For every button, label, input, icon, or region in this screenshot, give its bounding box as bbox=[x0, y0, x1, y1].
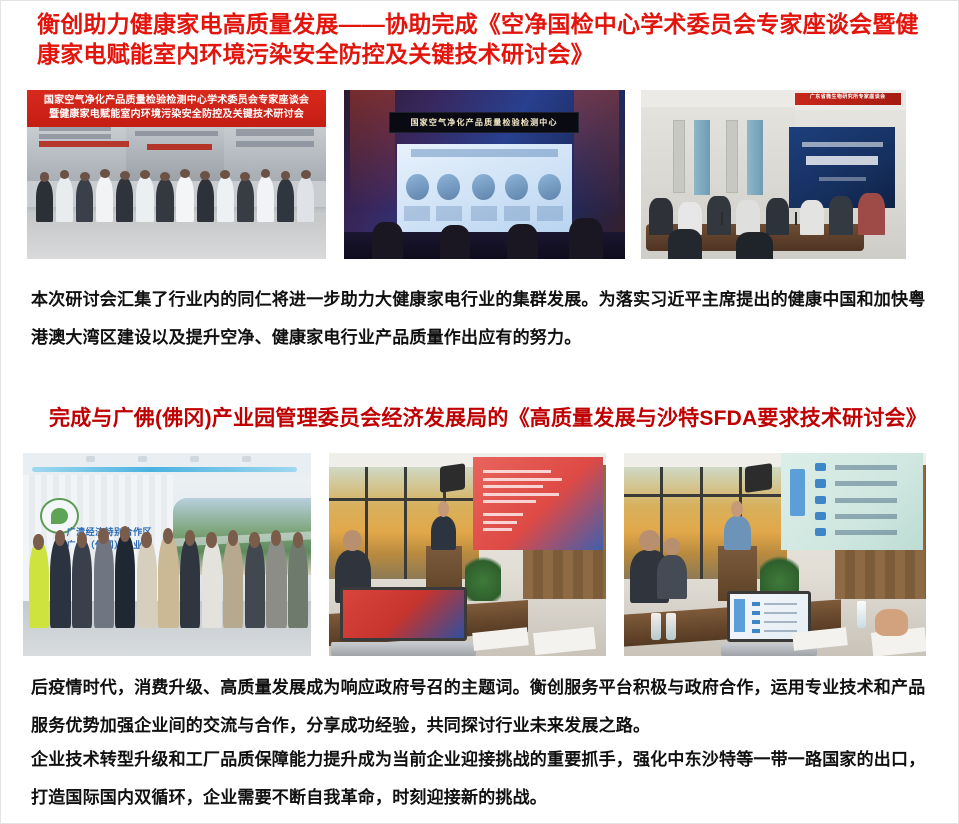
window-mullion bbox=[404, 467, 407, 579]
wall-panel bbox=[673, 120, 686, 193]
crowd-group bbox=[33, 164, 320, 221]
female-presenter bbox=[724, 516, 751, 551]
ceiling-speaker-icon bbox=[745, 463, 772, 493]
microphone bbox=[721, 212, 723, 226]
stage-light-right bbox=[574, 90, 619, 212]
window-row bbox=[39, 134, 111, 139]
conference-room-photo: 广东省微生物研究所专家座谈会 bbox=[641, 90, 906, 259]
seminar-male-speaker-photo bbox=[329, 453, 606, 656]
stage-screen bbox=[397, 144, 571, 232]
audience-silhouette bbox=[440, 225, 471, 259]
section-2-heading: 完成与广佛(佛冈)产业园管理委员会经济发展局的《高质量发展与沙特SFDA要求技术… bbox=[49, 404, 939, 434]
portrait-caption-3 bbox=[471, 206, 497, 222]
industrial-park-group-photo: 广清经济特别合作区 广佛（佛冈）产业园 bbox=[23, 453, 311, 656]
window-mullion bbox=[700, 467, 703, 579]
group-photo-outdoor: 国家空气净化产品质量检验检测中心学术委员会专家座谈会 暨健康家电赋能室内环境污染… bbox=[27, 90, 326, 259]
toc-number-05 bbox=[815, 528, 826, 536]
audience-silhouette bbox=[569, 218, 603, 259]
section-2-paragraph-2: 企业技术转型升级和工厂品质保障能力提升成为当前企业迎接挑战的重要抓手，强化中东沙… bbox=[31, 741, 941, 817]
facade-accent-stripe bbox=[39, 141, 129, 148]
seminar-female-speaker-photo bbox=[624, 453, 926, 656]
portrait-3 bbox=[472, 174, 495, 200]
curtain bbox=[694, 120, 710, 194]
photo-6-scene bbox=[624, 453, 926, 656]
toc-label-03 bbox=[835, 498, 897, 503]
screen-line-1 bbox=[802, 142, 883, 148]
photo-3-scene: 广东省微生物研究所专家座谈会 bbox=[641, 90, 906, 259]
photo-1-red-banner: 国家空气净化产品质量检验检测中心学术委员会专家座谈会 暨健康家电赋能室内环境污染… bbox=[27, 90, 326, 127]
attendee bbox=[766, 198, 790, 235]
toc-label-02 bbox=[835, 481, 897, 486]
ceiling-marker bbox=[190, 456, 199, 462]
portrait-4 bbox=[505, 174, 528, 200]
photo-5-scene bbox=[329, 453, 606, 656]
potted-plant bbox=[465, 552, 501, 601]
seated-attendee bbox=[657, 555, 687, 600]
screen-title-bar bbox=[411, 149, 557, 157]
portrait-caption-5 bbox=[537, 206, 563, 222]
toc-label-05 bbox=[835, 530, 897, 535]
portrait-5 bbox=[538, 174, 561, 200]
toc-label-01 bbox=[835, 465, 897, 470]
screen-line-2 bbox=[806, 156, 878, 165]
laptop[interactable] bbox=[340, 587, 467, 656]
stage-light-left bbox=[350, 90, 395, 212]
window-transom bbox=[329, 498, 479, 501]
microphone bbox=[795, 212, 797, 226]
portrait-caption-1 bbox=[404, 206, 430, 222]
window-row bbox=[236, 129, 314, 136]
facade-accent-stripe bbox=[147, 144, 213, 150]
ceiling-marker bbox=[86, 456, 95, 462]
attendee bbox=[829, 196, 853, 235]
ceiling-marker bbox=[242, 456, 251, 462]
attendee bbox=[858, 193, 885, 235]
stage-led-photo: 国家空气净化产品质量检验检测中心 bbox=[344, 90, 625, 259]
window-row bbox=[135, 131, 219, 136]
curtain bbox=[747, 120, 763, 194]
attendee bbox=[736, 200, 760, 235]
laptop-screen-red-slide bbox=[340, 587, 467, 641]
led-sign-text: 国家空气净化产品质量检验检测中心 bbox=[410, 117, 557, 128]
attendee bbox=[707, 196, 731, 235]
photo-2-scene: 国家空气净化产品质量检验检测中心 bbox=[344, 90, 625, 259]
portrait-2 bbox=[437, 174, 460, 200]
water-bottle bbox=[651, 613, 661, 639]
laptop-keyboard[interactable] bbox=[331, 642, 476, 656]
room-banner-text: 广东省微生物研究所专家座谈会 bbox=[795, 93, 901, 103]
foreground-attendee bbox=[736, 232, 773, 259]
toc-side-tab bbox=[790, 469, 806, 516]
toc-label-04 bbox=[835, 514, 897, 519]
male-presenter bbox=[431, 516, 456, 551]
water-bottle bbox=[857, 601, 867, 627]
banner-line-1: 国家空气净化产品质量检验检测中心学术委员会专家座谈会 bbox=[29, 94, 324, 108]
section-2-paragraph-1: 后疫情时代，消费升级、高质量发展成为响应政府号召的主题词。衡创服务平台积极与政府… bbox=[31, 669, 941, 745]
toc-number-04 bbox=[815, 512, 826, 520]
photo-1-scene: 国家空气净化产品质量检验检测中心学术委员会专家座谈会 暨健康家电赋能室内环境污染… bbox=[27, 90, 326, 259]
toc-number-02 bbox=[815, 479, 826, 487]
attendee bbox=[649, 198, 673, 235]
led-light-strip bbox=[32, 467, 297, 472]
portrait-caption-2 bbox=[436, 206, 462, 222]
audience-silhouette bbox=[372, 222, 403, 259]
window-transom bbox=[624, 494, 787, 497]
ceiling-speaker-icon bbox=[440, 463, 465, 493]
attendee bbox=[800, 200, 824, 235]
screen-line-3 bbox=[819, 177, 866, 180]
toc-number-03 bbox=[815, 496, 826, 504]
water-bottle bbox=[666, 613, 676, 639]
hand bbox=[875, 609, 908, 635]
led-sign: 国家空气净化产品质量检验检测中心 bbox=[389, 112, 579, 133]
projection-screen-toc bbox=[781, 453, 923, 550]
document-page: 衡创助力健康家电高质量发展——协助完成《空净国检中心学术委员会专家座谈会暨健康家… bbox=[0, 0, 959, 824]
window-row bbox=[236, 141, 314, 148]
room-red-banner: 广东省微生物研究所专家座谈会 bbox=[795, 93, 901, 105]
toc-number-01 bbox=[815, 463, 826, 471]
audience-silhouette bbox=[507, 224, 538, 259]
portrait-caption-4 bbox=[504, 206, 530, 222]
projection-screen-red bbox=[473, 457, 603, 550]
foreground-attendee bbox=[668, 229, 702, 259]
portrait-1 bbox=[406, 174, 429, 200]
section-1-paragraph: 本次研讨会汇集了行业内的同仁将进一步助力大健康家电行业的集群发展。为落实习近平主… bbox=[31, 281, 936, 357]
banner-line-2: 暨健康家电赋能室内环境污染安全防控及关键技术研讨会 bbox=[29, 108, 324, 122]
ceiling-marker bbox=[138, 456, 147, 462]
section-1-heading: 衡创助力健康家电高质量发展——协助完成《空净国检中心学术委员会专家座谈会暨健康家… bbox=[37, 9, 927, 69]
photo-4-scene: 广清经济特别合作区 广佛（佛冈）产业园 bbox=[23, 453, 311, 656]
wall-panel bbox=[726, 120, 739, 193]
